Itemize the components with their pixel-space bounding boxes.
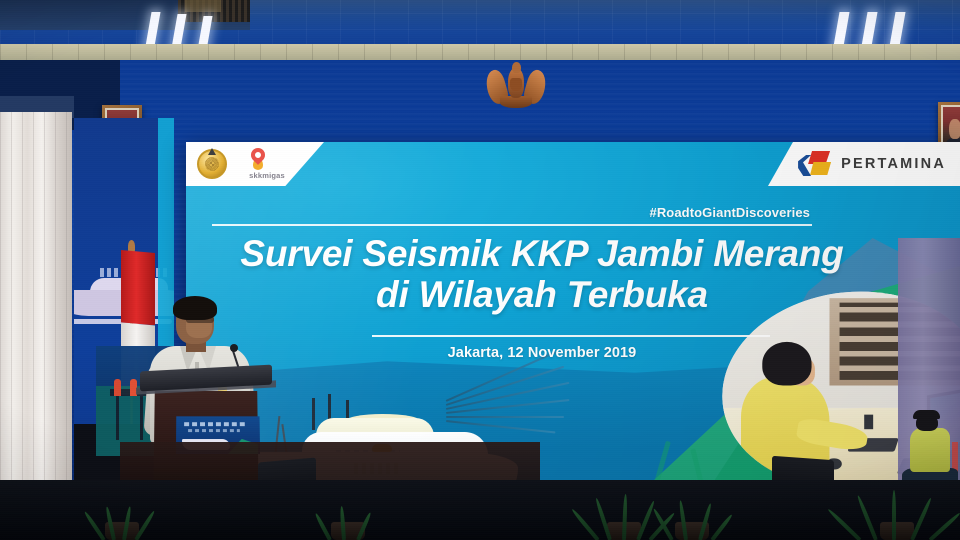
banner-title: Survei Seismik KKP Jambi Merang di Wilay… (186, 234, 898, 315)
microphone-icon (230, 344, 238, 352)
decorative-plant (660, 496, 724, 540)
plant-leaf (856, 495, 878, 540)
monitor-stand (865, 414, 874, 429)
campaign-hashtag: #RoadtoGiantDiscoveries (649, 205, 810, 220)
worker2-body (910, 428, 950, 472)
decorative-plant (92, 496, 152, 540)
skkmigas-wordmark: skkmigas (236, 171, 298, 180)
podium-sign-text (184, 422, 248, 426)
banner-date: Jakarta, 12 November 2019 (186, 345, 898, 361)
vessel-mast (312, 398, 315, 430)
rig-worker (114, 379, 121, 396)
kementerian-esdm-seal-icon (197, 149, 227, 179)
rig-leg (116, 392, 119, 440)
title-rule-bottom (372, 335, 770, 337)
banner-title-line1: Survei Seismik KKP Jambi Merang (240, 233, 843, 274)
skkmigas-logo: skkmigas (236, 148, 298, 180)
decorative-plant (320, 502, 376, 540)
plant-pot (880, 522, 914, 540)
podium-sign-subtext (188, 429, 240, 432)
plant-leaf (595, 498, 612, 540)
seismic-streamer (446, 416, 564, 418)
title-rule-top (212, 224, 812, 226)
stage-curtain-left (0, 112, 72, 540)
decorative-plant (588, 490, 660, 540)
worker2-cap (913, 410, 940, 419)
garuda-shield (510, 78, 522, 91)
garuda-head (512, 62, 521, 73)
pertamina-arrow-icon (798, 151, 832, 177)
seal-star-icon (208, 148, 216, 155)
skkmigas-pin-icon (248, 145, 268, 165)
garuda-pancasila-emblem (487, 62, 545, 118)
pertamina-arrow-blue (798, 155, 811, 176)
event-photo-scene: skkmigas PERTAMINA #RoadtoGiantDiscoveri… (0, 0, 960, 540)
pertamina-arrow-gold (810, 162, 831, 175)
plant-leaf (910, 497, 932, 540)
plant-leaf (892, 490, 896, 540)
ceiling-vent-cover (185, 0, 221, 12)
pertamina-logo: PERTAMINA (798, 151, 946, 177)
banner-title-line2: di Wilayah Terbuka (186, 275, 898, 316)
decorative-plant (852, 488, 942, 540)
presenter-hair (173, 296, 217, 320)
pertamina-wordmark: PERTAMINA (841, 156, 946, 172)
left-logo-group: skkmigas (197, 148, 298, 180)
